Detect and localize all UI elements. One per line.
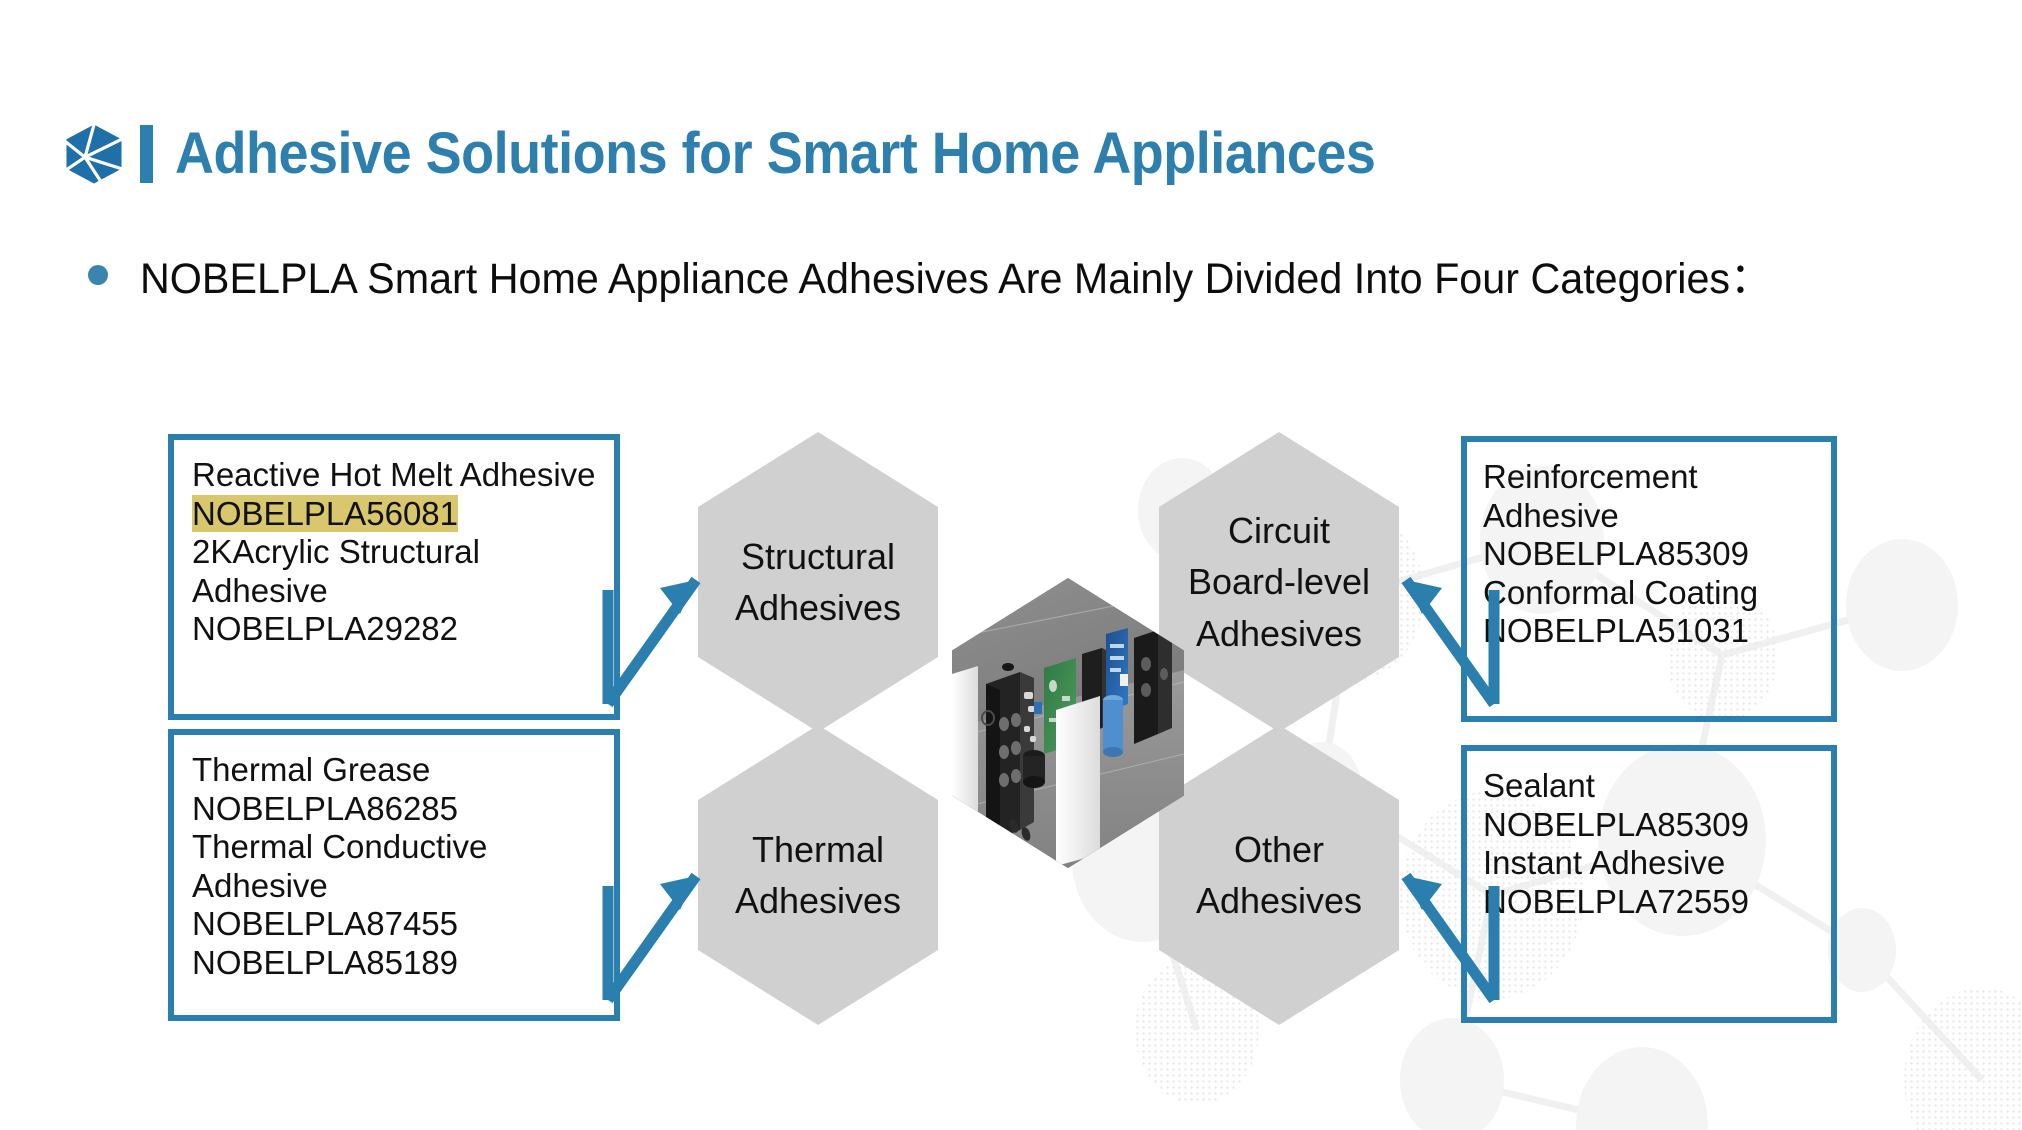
hexagon-structural-adhesives[interactable]: Structural Adhesives	[698, 432, 938, 732]
center-product-image-hexagon	[952, 578, 1184, 868]
product-code-highlighted: NOBELPLA56081	[192, 495, 458, 532]
product-name: Instant Adhesive	[1483, 844, 1725, 881]
product-name: Conformal Coating	[1483, 574, 1758, 611]
product-name: Reactive Hot Melt Adhesive	[192, 456, 596, 493]
product-code: NOBELPLA72559	[1483, 883, 1749, 920]
accent-bar-icon	[140, 125, 153, 183]
hexagon-label: Circuit Board-level Adhesives	[1188, 505, 1370, 658]
hexagon-thermal-adhesives[interactable]: Thermal Adhesives	[698, 725, 938, 1025]
product-code: NOBELPLA85309	[1483, 535, 1749, 572]
info-box-content: Thermal GreaseNOBELPLA86285Thermal Condu…	[174, 735, 614, 983]
product-name: 2KAcrylic Structural Adhesive	[192, 533, 480, 609]
info-box-content: SealantNOBELPLA85309Instant AdhesiveNOBE…	[1467, 751, 1831, 921]
product-name: Thermal Conductive Adhesive	[192, 828, 487, 904]
product-code: NOBELPLA85189	[192, 944, 458, 981]
hexagon-other-adhesives[interactable]: Other Adhesives	[1159, 725, 1399, 1025]
info-box-content: Reactive Hot Melt AdhesiveNOBELPLA560812…	[174, 440, 614, 649]
product-code: NOBELPLA51031	[1483, 612, 1749, 649]
info-box-thermal-adhesives[interactable]: Thermal GreaseNOBELPLA86285Thermal Condu…	[168, 729, 620, 1021]
product-name: Sealant	[1483, 767, 1595, 804]
product-code: NOBELPLA85309	[1483, 806, 1749, 843]
product-name: Reinforcement Adhesive	[1483, 458, 1698, 534]
hexagon-label: Thermal Adhesives	[735, 824, 901, 926]
page-title: Adhesive Solutions for Smart Home Applia…	[175, 120, 1375, 187]
product-code: NOBELPLA87455	[192, 905, 458, 942]
intro-bullet-text: NOBELPLA Smart Home Appliance Adhesives …	[140, 244, 1771, 306]
hexagon-logo-icon	[62, 122, 126, 186]
info-box-content: Reinforcement AdhesiveNOBELPLA85309Confo…	[1467, 442, 1831, 651]
hexagon-circuit-board-level-adhesives[interactable]: Circuit Board-level Adhesives	[1159, 432, 1399, 732]
bullet-dot-icon	[88, 265, 108, 285]
info-box-other-adhesives[interactable]: SealantNOBELPLA85309Instant AdhesiveNOBE…	[1461, 745, 1837, 1023]
info-box-structural-adhesives[interactable]: Reactive Hot Melt AdhesiveNOBELPLA560812…	[168, 434, 620, 720]
product-name: Thermal Grease	[192, 751, 430, 788]
hexagon-label: Other Adhesives	[1196, 824, 1362, 926]
product-code: NOBELPLA86285	[192, 790, 458, 827]
product-code: NOBELPLA29282	[192, 610, 458, 647]
intro-bullet-row: NOBELPLA Smart Home Appliance Adhesives …	[88, 244, 1839, 306]
slide-header: Adhesive Solutions for Smart Home Applia…	[62, 120, 1466, 187]
slide-canvas: Adhesive Solutions for Smart Home Applia…	[0, 0, 2022, 1130]
exploded-appliance-product-photo	[952, 578, 1184, 868]
hexagon-label: Structural Adhesives	[735, 531, 901, 633]
info-box-circuit-board-level-adhesives[interactable]: Reinforcement AdhesiveNOBELPLA85309Confo…	[1461, 436, 1837, 722]
